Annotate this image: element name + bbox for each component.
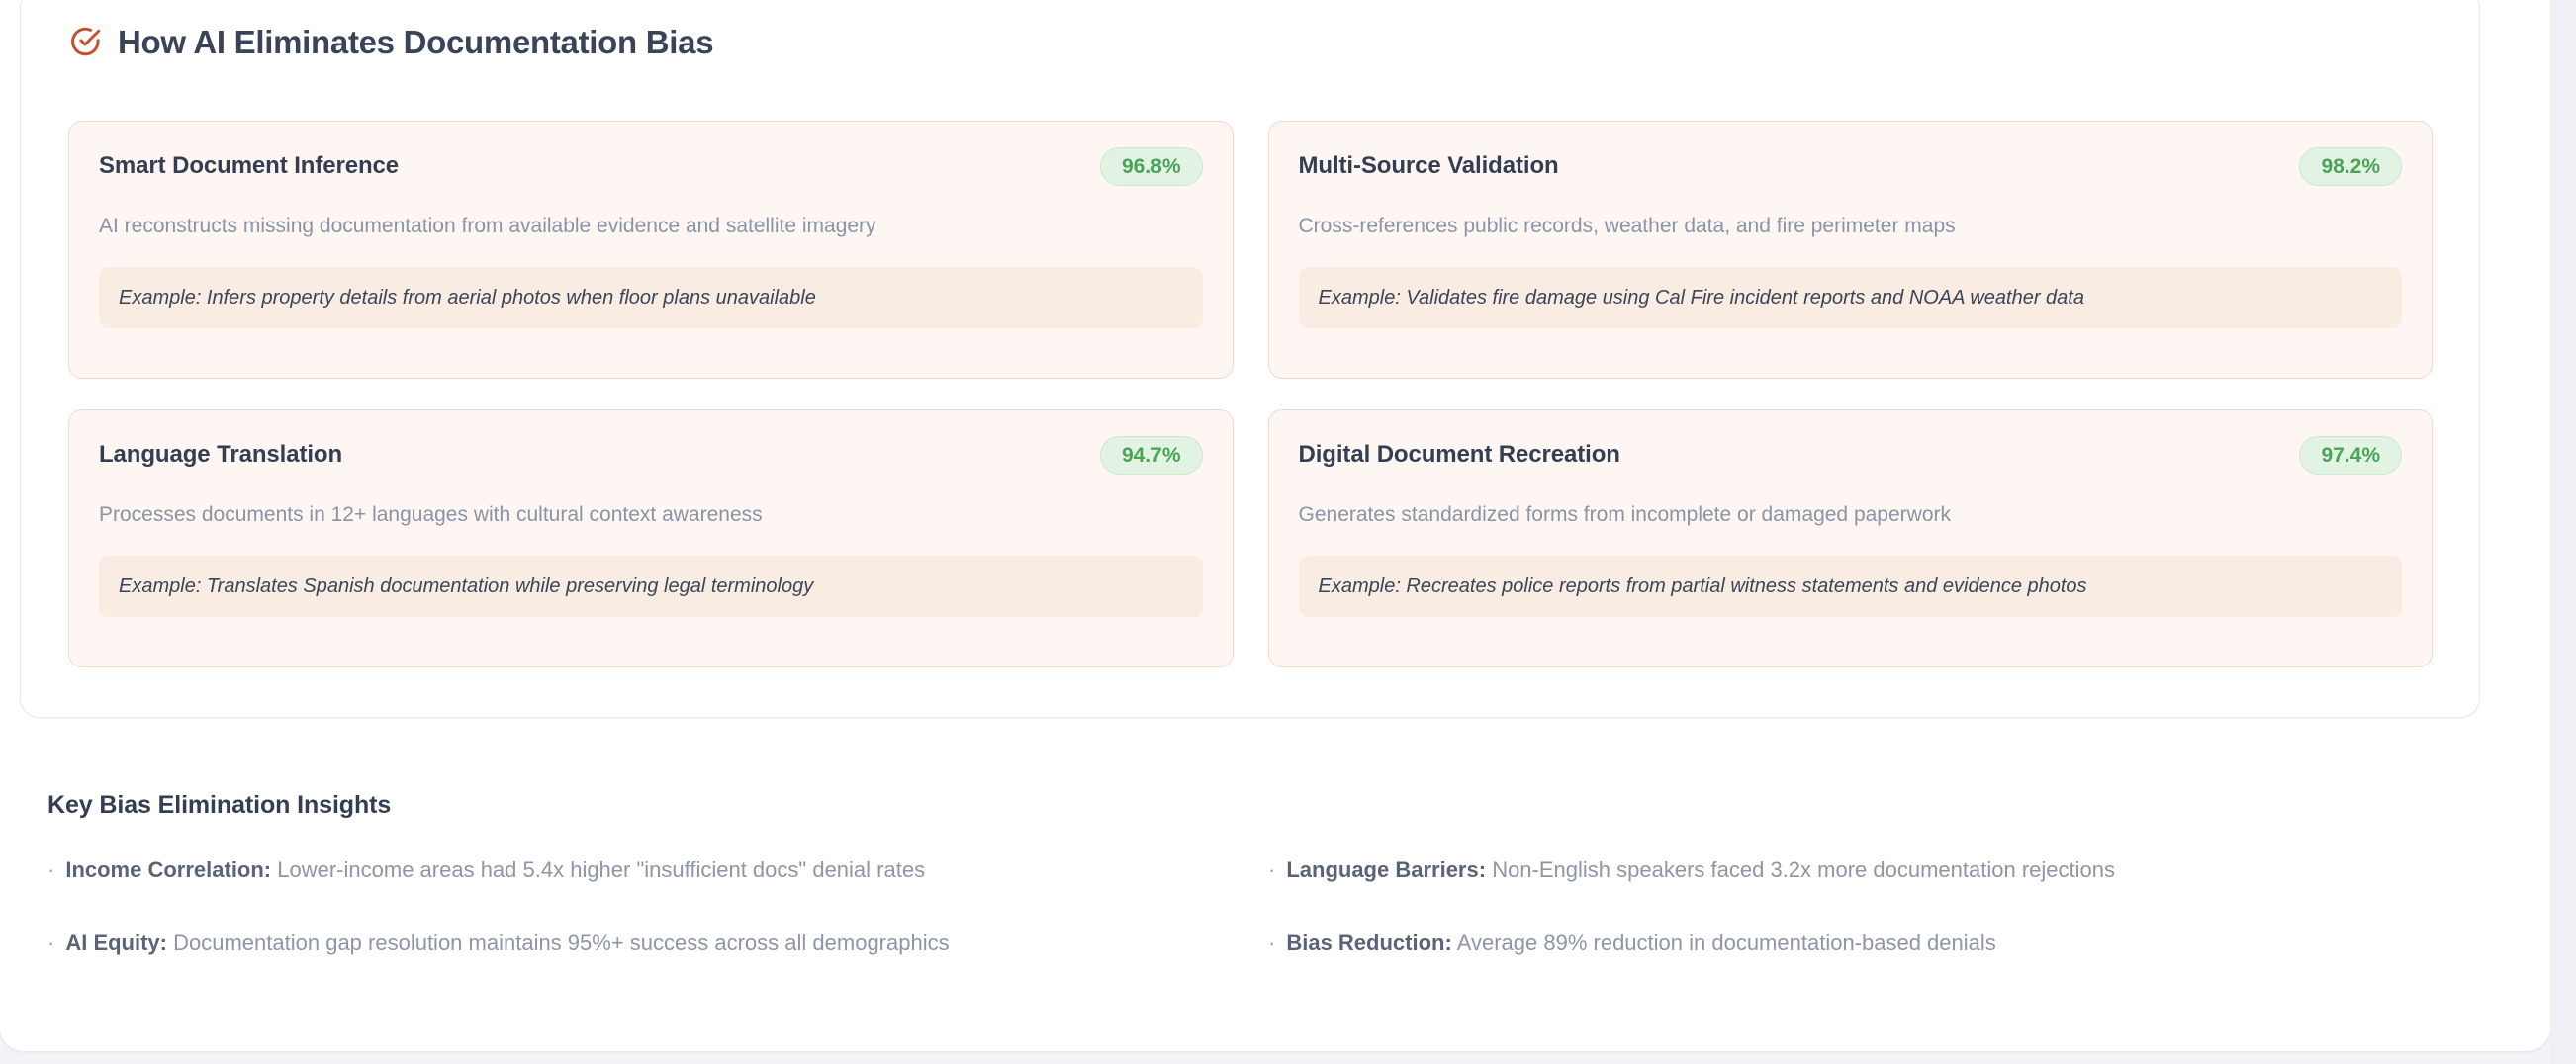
page-root: How AI Eliminates Documentation Bias Sma… [0, 0, 2576, 1064]
feature-name: Digital Document Recreation [1299, 441, 1620, 470]
feature-name: Multi-Source Validation [1299, 152, 1559, 181]
feature-example: Example: Infers property details from ae… [99, 267, 1203, 328]
insight-body: Income Correlation: Lower-income areas h… [65, 855, 925, 885]
page-title: How AI Eliminates Documentation Bias [118, 26, 713, 58]
feature-description: AI reconstructs missing documentation fr… [99, 212, 1203, 241]
feature-name: Language Translation [99, 441, 342, 470]
feature-card-header: Language Translation 94.7% [99, 436, 1203, 475]
insight-item: · AI Equity: Documentation gap resolutio… [47, 929, 1231, 958]
check-circle-icon [68, 25, 102, 58]
feature-description: Cross-references public records, weather… [1299, 212, 2403, 241]
feature-card-header: Multi-Source Validation 98.2% [1299, 147, 2403, 186]
insight-item: · Bias Reduction: Average 89% reduction … [1268, 929, 2451, 958]
vertical-scrollbar[interactable] [2550, 0, 2576, 1064]
insights-grid: · Income Correlation: Lower-income areas… [47, 855, 2451, 957]
feature-card[interactable]: Digital Document Recreation 97.4% Genera… [1268, 409, 2434, 667]
accuracy-badge: 98.2% [2299, 147, 2402, 186]
content-panel: How AI Eliminates Documentation Bias Sma… [0, 0, 2550, 1051]
feature-example: Example: Recreates police reports from p… [1299, 556, 2403, 617]
bullet-icon: · [47, 859, 54, 881]
panel-header: How AI Eliminates Documentation Bias [68, 25, 713, 58]
insight-label: Income Correlation: [65, 857, 271, 882]
feature-card[interactable]: Language Translation 94.7% Processes doc… [68, 409, 1234, 667]
insight-body: AI Equity: Documentation gap resolution … [65, 929, 949, 958]
insight-body: Language Barriers: Non-English speakers … [1286, 855, 2115, 885]
feature-card-header: Digital Document Recreation 97.4% [1299, 436, 2403, 475]
feature-example: Example: Translates Spanish documentatio… [99, 556, 1203, 617]
bullet-icon: · [47, 932, 54, 954]
insight-text: Average 89% reduction in documentation-b… [1457, 931, 1996, 955]
feature-name: Smart Document Inference [99, 152, 399, 181]
feature-example: Example: Validates fire damage using Cal… [1299, 267, 2403, 328]
insight-text: Lower-income areas had 5.4x higher "insu… [277, 857, 925, 882]
insight-text: Non-English speakers faced 3.2x more doc… [1492, 857, 2115, 882]
insight-label: Bias Reduction: [1286, 931, 1451, 955]
accuracy-badge: 96.8% [1100, 147, 1203, 186]
insights-title: Key Bias Elimination Insights [47, 791, 2451, 820]
insight-body: Bias Reduction: Average 89% reduction in… [1286, 929, 1995, 958]
accuracy-badge: 97.4% [2299, 436, 2402, 475]
bullet-icon: · [1268, 932, 1275, 954]
feature-card[interactable]: Smart Document Inference 96.8% AI recons… [68, 121, 1234, 379]
insight-item: · Language Barriers: Non-English speaker… [1268, 855, 2451, 885]
insight-label: Language Barriers: [1286, 857, 1486, 882]
accuracy-badge: 94.7% [1100, 436, 1203, 475]
bullet-icon: · [1268, 859, 1275, 881]
feature-card[interactable]: Multi-Source Validation 98.2% Cross-refe… [1268, 121, 2434, 379]
feature-description: Processes documents in 12+ languages wit… [99, 500, 1203, 530]
insight-item: · Income Correlation: Lower-income areas… [47, 855, 1231, 885]
feature-grid: Smart Document Inference 96.8% AI recons… [68, 121, 2433, 667]
feature-description: Generates standardized forms from incomp… [1299, 500, 2403, 530]
insights-section: Key Bias Elimination Insights · Income C… [47, 791, 2451, 957]
documentation-bias-panel: How AI Eliminates Documentation Bias Sma… [20, 0, 2480, 718]
insight-text: Documentation gap resolution maintains 9… [173, 931, 949, 955]
feature-card-header: Smart Document Inference 96.8% [99, 147, 1203, 186]
insight-label: AI Equity: [65, 931, 167, 955]
